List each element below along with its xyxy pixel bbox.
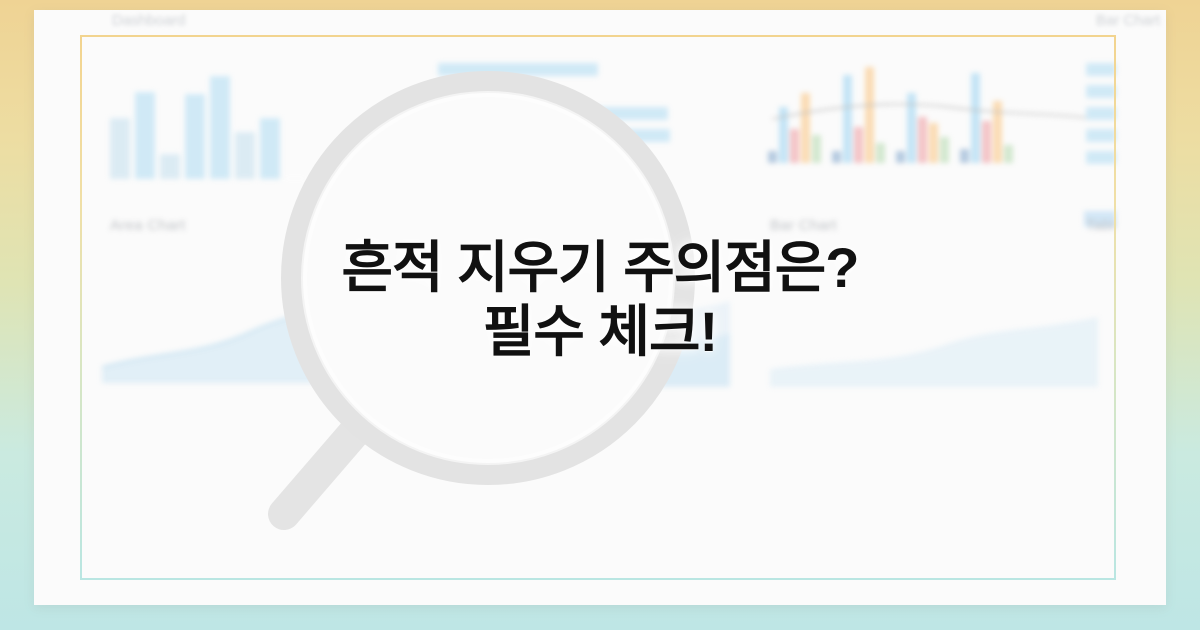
panel-title-dashboard: Dashboard: [112, 12, 185, 29]
headline: 흔적 지우기 주의점은? 필수 체크!: [0, 236, 1200, 364]
hbar: [438, 63, 598, 76]
panel-title-bar-chart-right: Bar Chart: [770, 217, 837, 234]
bar: [385, 145, 405, 179]
bar: [235, 131, 255, 179]
right-table-rows: [1086, 63, 1116, 173]
hbar: [438, 151, 456, 164]
bar: [335, 149, 355, 179]
bar: [360, 149, 380, 179]
hbar: [438, 107, 668, 120]
panel-title-table: Table: [1086, 217, 1116, 234]
panel-title-bar-chart-top: Bar Chart: [1096, 12, 1160, 29]
hbar: [1086, 151, 1116, 164]
bar: [160, 153, 180, 179]
panel-title-area-chart: Area Chart: [110, 217, 186, 234]
panel-title-stacked-area-chart: Stacked Area Chart: [438, 217, 573, 234]
hbar: [1086, 107, 1116, 120]
left-bar-chart: [110, 59, 430, 179]
bar: [135, 91, 155, 179]
poster-canvas: Area Chart Stacked Area Chart Bar Chart …: [0, 0, 1200, 630]
headline-line-1: 흔적 지우기 주의점은?: [0, 236, 1200, 300]
bar: [285, 178, 305, 179]
mid-horizontal-bar-chart: [438, 63, 708, 173]
grouped-chart-overlay-line: [768, 53, 1098, 163]
hbar: [1086, 63, 1116, 76]
bar: [260, 117, 280, 179]
headline-line-2: 필수 체크!: [0, 300, 1200, 364]
bar: [310, 178, 330, 179]
hbar: [1086, 85, 1116, 98]
bar: [185, 93, 205, 179]
hbar: [1086, 129, 1116, 142]
hbar: [438, 85, 534, 98]
bar: [210, 75, 230, 179]
bar: [410, 127, 430, 179]
bar: [110, 117, 130, 179]
hbar: [438, 129, 670, 142]
